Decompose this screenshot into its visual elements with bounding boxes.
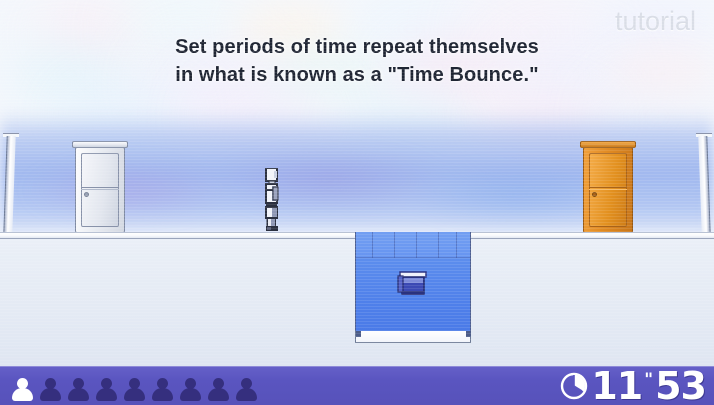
person-body-icon: [96, 388, 117, 401]
pit-gridline: [456, 232, 457, 258]
door-panel-divider: [589, 187, 627, 190]
pit-post-left: [356, 331, 361, 337]
person-body-icon: [180, 388, 201, 401]
pit-gridline: [438, 232, 439, 258]
life-icon-used: [206, 375, 231, 405]
game-screen: Set periods of time repeat themselves in…: [0, 0, 714, 405]
person-body-icon: [236, 388, 257, 401]
player-character[interactable]: [260, 168, 282, 232]
tutorial-subtitle: Set periods of time repeat themselves in…: [0, 33, 714, 89]
pit-gridline: [372, 232, 373, 258]
pit-upper-shade: [356, 232, 470, 258]
person-body-icon: [12, 388, 33, 401]
door-orange-right[interactable]: [583, 147, 633, 233]
pit-gridline: [394, 232, 395, 258]
timer-prime-mark: ": [644, 372, 653, 389]
pit-gridline: [356, 257, 470, 258]
clock-pie-icon: [559, 371, 589, 401]
door-panel: [81, 153, 119, 227]
subtitle-line-2: in what is known as a "Time Bounce.": [0, 61, 714, 89]
door-knob-icon[interactable]: [84, 192, 89, 197]
person-body-icon: [208, 388, 229, 401]
stage-label: tutorial: [615, 6, 696, 36]
subtitle-line-1: Set periods of time repeat themselves: [0, 33, 714, 61]
pit-post-right: [466, 331, 471, 337]
life-icon-used: [94, 375, 119, 405]
door-panel-divider: [81, 187, 119, 190]
person-body-icon: [68, 388, 89, 401]
life-icon-used: [38, 375, 63, 405]
player-sprite: [260, 168, 282, 232]
crate-icon: [397, 271, 429, 301]
person-body-icon: [124, 388, 145, 401]
pit-gridline: [416, 232, 417, 258]
door-knob-icon[interactable]: [592, 192, 597, 197]
lives-counter: [0, 367, 259, 405]
timer-display: 11 " 53: [559, 367, 714, 405]
door-white-left[interactable]: [75, 147, 125, 233]
hud-bar: 11 " 53: [0, 366, 714, 405]
life-icon-used: [66, 375, 91, 405]
life-icon-used: [122, 375, 147, 405]
life-icon-used: [150, 375, 175, 405]
person-body-icon: [152, 388, 173, 401]
timer-seconds: 11: [591, 367, 642, 405]
life-icon-active: [10, 375, 35, 405]
pit-floor: [355, 331, 471, 343]
door-panel: [589, 153, 627, 227]
life-icon-used: [178, 375, 203, 405]
person-body-icon: [40, 388, 61, 401]
movable-crate[interactable]: [397, 271, 429, 301]
life-icon-used: [234, 375, 259, 405]
timer-fraction: 53: [655, 367, 706, 405]
